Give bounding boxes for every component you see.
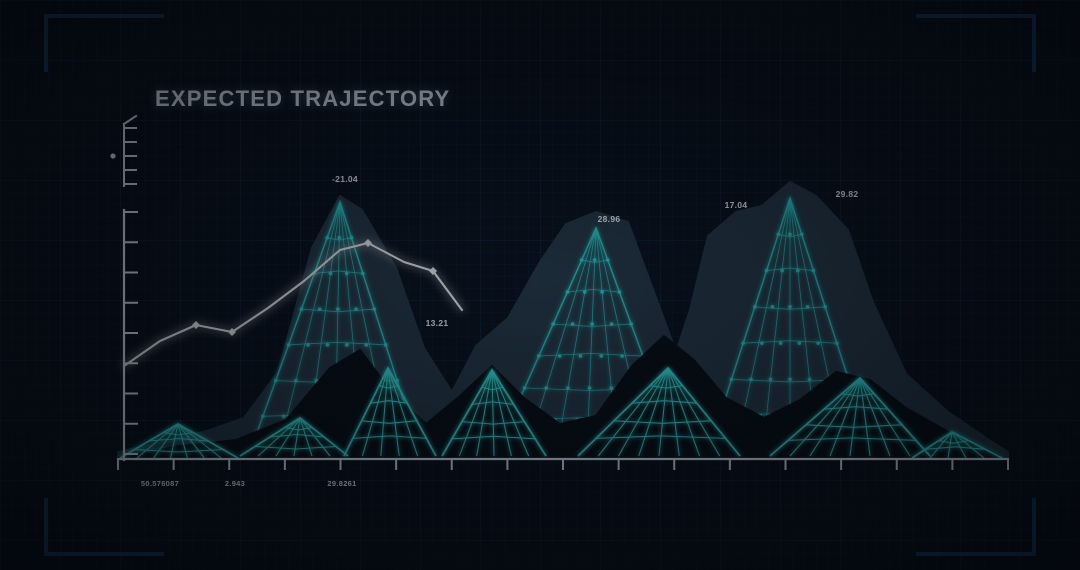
data-label: 29.82 xyxy=(836,189,859,199)
page-title: EXPECTED TRAJECTORY xyxy=(155,86,450,112)
x-axis-tick-labels: 50.5760872.94329.8261 xyxy=(141,479,357,488)
data-label: 17.04 xyxy=(725,200,748,210)
x-tick-label: 50.576087 xyxy=(141,479,179,488)
data-label: 28.96 xyxy=(598,214,621,224)
data-label: 13.21 xyxy=(426,318,449,328)
hud-chart-screen: -21.0413.2128.9617.0429.82 50.5760872.94… xyxy=(0,0,1080,570)
x-tick-label: 2.943 xyxy=(225,479,245,488)
x-tick-label: 29.8261 xyxy=(327,479,356,488)
data-label: -21.04 xyxy=(332,174,358,184)
